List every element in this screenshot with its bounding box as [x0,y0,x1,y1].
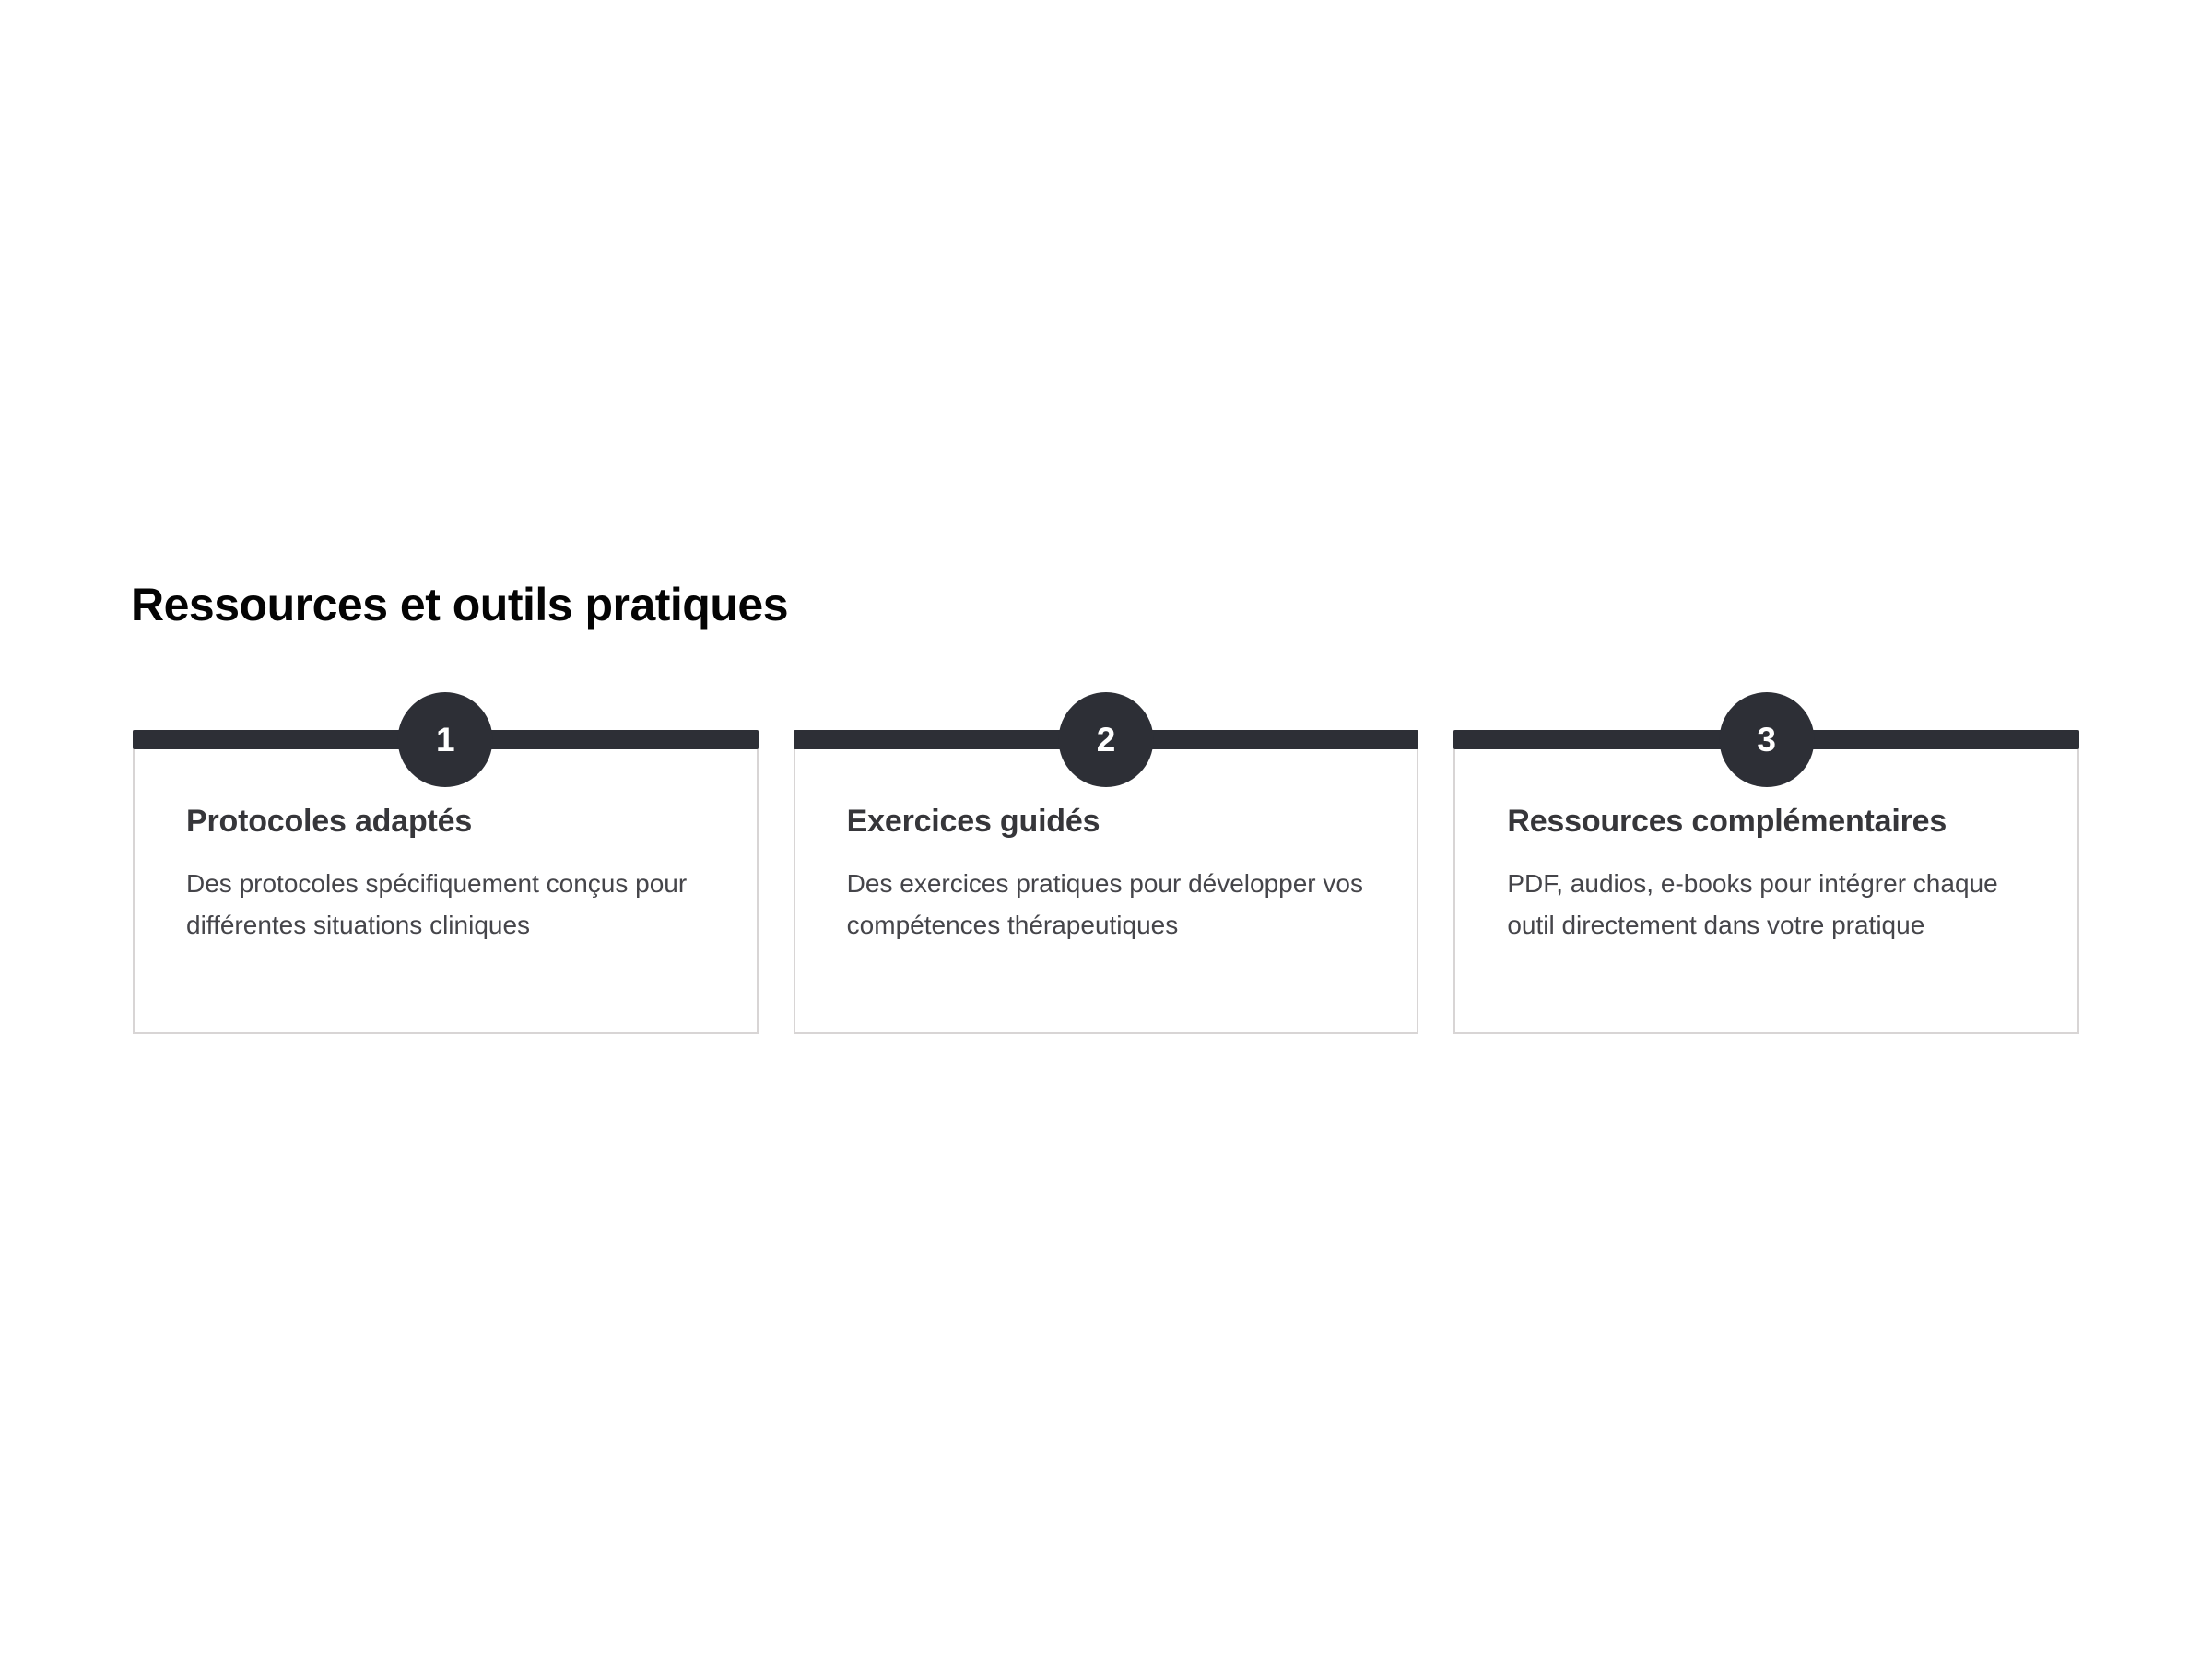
card-description: Des protocoles spécifiquement conçus pou… [186,863,705,947]
card-title: Ressources complémentaires [1507,802,2026,842]
page-root: Ressources et outils pratiques 1 Protoco… [0,0,2212,1659]
feature-card-3[interactable]: 3 Ressources complémentaires PDF, audios… [1453,730,2079,1034]
card-step-number-badge: 3 [1719,692,1814,787]
feature-cards-row: 1 Protocoles adaptés Des protocoles spéc… [133,730,2079,1034]
page-title: Ressources et outils pratiques [131,579,788,632]
card-step-number-badge: 1 [398,692,493,787]
card-description: PDF, audios, e-books pour intégrer chaqu… [1507,863,2026,947]
card-description: Des exercices pratiques pour développer … [847,863,1366,947]
card-title: Protocoles adaptés [186,802,705,842]
feature-card-2[interactable]: 2 Exercices guidés Des exercices pratiqu… [794,730,1419,1034]
feature-card-1[interactable]: 1 Protocoles adaptés Des protocoles spéc… [133,730,759,1034]
card-step-number-badge: 2 [1059,692,1154,787]
card-title: Exercices guidés [847,802,1366,842]
